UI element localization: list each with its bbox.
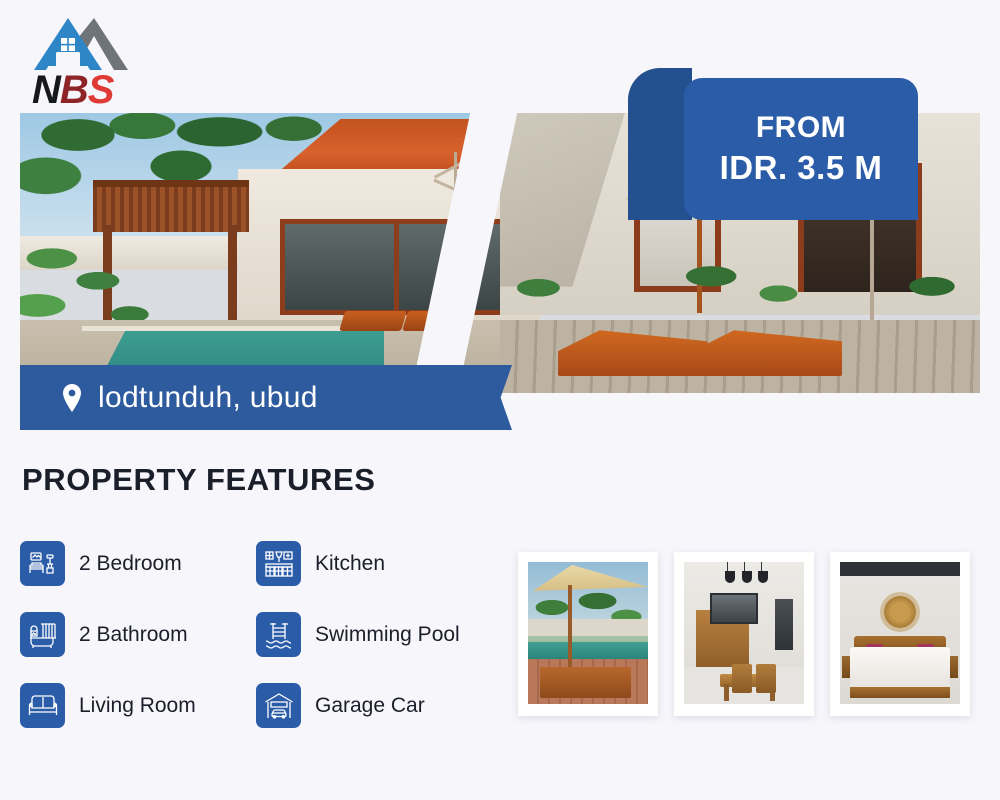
pendant-cord	[761, 562, 762, 571]
pergola-post	[228, 225, 237, 320]
feature-label: 2 Bathroom	[79, 623, 188, 647]
feature-label: Garage Car	[315, 694, 425, 718]
pendant-cord	[744, 562, 745, 571]
refrigerator	[775, 599, 793, 650]
swimming-pool-icon	[256, 612, 301, 657]
logo-letter-b: B	[60, 68, 88, 112]
pendant-lamp	[742, 571, 752, 583]
bed-base	[850, 687, 951, 698]
price-from-label: FROM	[756, 111, 846, 145]
pool-layer	[528, 642, 648, 659]
brand-wordmark: NBS	[32, 70, 113, 110]
table-leg	[724, 684, 729, 701]
feature-label: Swimming Pool	[315, 623, 460, 647]
sunburst-mirror	[884, 596, 916, 628]
feature-item-swimming-pool[interactable]: Swimming Pool	[256, 599, 492, 670]
garage-car-icon	[256, 683, 301, 728]
logo-letter-n: N	[32, 68, 60, 112]
feature-item-bathroom[interactable]: 2 Bathroom	[20, 599, 256, 670]
dining-chair	[756, 664, 776, 692]
feature-label: 2 Bedroom	[79, 552, 182, 576]
property-features-grid: 2 Bedroom Kitchen	[20, 528, 500, 741]
thumbnail-photo	[684, 562, 804, 704]
page-title: PROPERTY FEATURES	[22, 462, 376, 498]
bathtub-icon	[20, 612, 65, 657]
feature-item-living-room[interactable]: Living Room	[20, 670, 256, 741]
umbrella-pole	[568, 585, 572, 673]
thumbnail-bedroom[interactable]	[830, 552, 970, 716]
brand-logo[interactable]: NBS	[26, 16, 176, 108]
wall-layer	[528, 619, 648, 636]
thumbnail-pool[interactable]	[518, 552, 658, 716]
pendant-cord	[727, 562, 728, 571]
ceiling-beam	[840, 562, 960, 576]
feature-item-garage-car[interactable]: Garage Car	[256, 670, 492, 741]
thumbnail-photo	[840, 562, 960, 704]
house-mountain-logo-icon	[34, 16, 130, 72]
sun-lounger	[340, 311, 408, 331]
feature-item-kitchen[interactable]: Kitchen	[256, 528, 492, 599]
thumbnail-dining[interactable]	[674, 552, 814, 716]
logo-letter-s: S	[88, 68, 114, 112]
wooden-pergola	[93, 180, 249, 232]
location-text: lodtunduh, ubud	[98, 381, 318, 415]
property-listing-page: NBS	[0, 0, 1000, 800]
feature-label: Kitchen	[315, 552, 385, 576]
map-pin-icon	[62, 384, 82, 412]
location-content: lodtunduh, ubud	[62, 365, 318, 430]
location-ribbon-tail	[482, 365, 512, 430]
pendant-lamp	[725, 571, 735, 583]
gallery-thumbnails	[518, 552, 970, 716]
sofa-icon	[20, 683, 65, 728]
feature-item-bedroom[interactable]: 2 Bedroom	[20, 528, 256, 599]
location-ribbon: lodtunduh, ubud	[20, 365, 510, 430]
price-banner-text: FROM IDR. 3.5 M	[684, 78, 918, 220]
bed-icon	[20, 541, 65, 586]
thumbnail-photo	[528, 562, 648, 704]
bed-mattress	[850, 647, 951, 690]
pendant-lamp	[758, 571, 768, 583]
price-banner-tab	[628, 68, 692, 220]
price-amount: IDR. 3.5 M	[720, 149, 883, 187]
patio-furniture	[540, 667, 631, 698]
television	[710, 593, 758, 624]
dining-chair	[732, 664, 752, 692]
feature-label: Living Room	[79, 694, 196, 718]
price-banner: FROM IDR. 3.5 M	[628, 68, 918, 220]
kitchen-icon	[256, 541, 301, 586]
